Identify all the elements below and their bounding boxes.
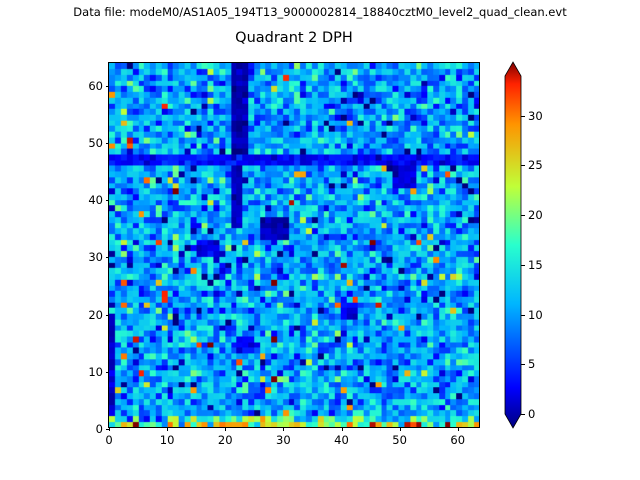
y-tick (106, 429, 110, 430)
colorbar-tick (521, 165, 525, 166)
x-tick (167, 427, 168, 431)
x-tick-label: 40 (334, 433, 349, 447)
colorbar-tick-label: 0 (528, 407, 535, 421)
y-tick (106, 372, 110, 373)
y-tick (106, 200, 110, 201)
colorbar[interactable]: 051015202530 (505, 62, 521, 428)
y-tick-label: 60 (88, 79, 103, 93)
colorbar-tick-label: 10 (528, 308, 543, 322)
x-tick (109, 427, 110, 431)
y-tick-label: 40 (88, 193, 103, 207)
y-tick (106, 143, 110, 144)
detector-heatmap-image[interactable] (109, 63, 479, 427)
x-tick (225, 427, 226, 431)
colorbar-tick (521, 116, 525, 117)
y-tick (106, 315, 110, 316)
x-tick (283, 427, 284, 431)
heatmap-axes[interactable]: 01020304050600102030405060 (108, 62, 480, 428)
y-tick-label: 0 (96, 422, 103, 436)
x-tick (458, 427, 459, 431)
x-tick-label: 30 (276, 433, 291, 447)
colorbar-tick-label: 20 (528, 208, 543, 222)
y-tick-label: 30 (88, 250, 103, 264)
y-tick (106, 257, 110, 258)
x-tick-label: 10 (160, 433, 175, 447)
colorbar-tick (521, 265, 525, 266)
plot-title: Quadrant 2 DPH (108, 30, 480, 46)
colorbar-tick-label: 25 (528, 158, 543, 172)
x-tick-label: 50 (392, 433, 407, 447)
x-tick-label: 0 (105, 433, 112, 447)
colorbar-tick-label: 15 (528, 258, 543, 272)
x-tick-label: 20 (218, 433, 233, 447)
colorbar-tick (521, 414, 525, 415)
colorbar-tick-label: 5 (528, 357, 535, 371)
matplotlib-figure: Data file: modeM0/AS1A05_194T13_90000028… (0, 0, 640, 480)
x-tick-label: 60 (450, 433, 465, 447)
data-file-label: Data file: modeM0/AS1A05_194T13_90000028… (0, 5, 640, 19)
colorbar-tick (521, 315, 525, 316)
y-tick (106, 86, 110, 87)
colorbar-tick-label: 30 (528, 109, 543, 123)
x-tick (400, 427, 401, 431)
y-tick-label: 50 (88, 136, 103, 150)
y-tick-label: 20 (88, 308, 103, 322)
x-tick (342, 427, 343, 431)
colorbar-tick (521, 215, 525, 216)
colorbar-gradient (505, 62, 521, 428)
colorbar-tick (521, 364, 525, 365)
y-tick-label: 10 (88, 365, 103, 379)
